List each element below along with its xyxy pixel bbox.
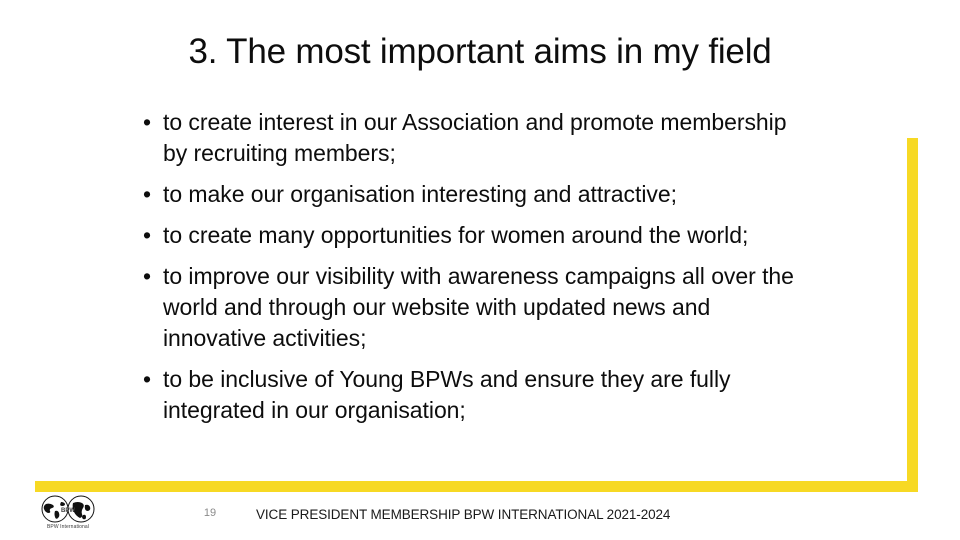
accent-bar-horizontal	[35, 481, 918, 492]
list-item-text: to create interest in our Association an…	[163, 107, 803, 169]
bpw-international-logo: BPW BPW International	[37, 495, 99, 535]
list-item-text: to make our organisation interesting and…	[163, 179, 803, 210]
bullet-point-icon: •	[143, 179, 163, 210]
list-item-text: to be inclusive of Young BPWs and ensure…	[163, 364, 803, 426]
svg-text:BPW: BPW	[61, 508, 75, 514]
bullet-point-icon: •	[143, 261, 163, 292]
list-item: • to improve our visibility with awarene…	[143, 261, 803, 354]
page-title: 3. The most important aims in my field	[0, 30, 960, 74]
list-item: • to create many opportunities for women…	[143, 220, 803, 251]
logo-caption: BPW International	[37, 524, 99, 530]
bullet-point-icon: •	[143, 364, 163, 395]
list-item-text: to improve our visibility with awareness…	[163, 261, 803, 354]
list-item: • to create interest in our Association …	[143, 107, 803, 169]
bullet-point-icon: •	[143, 107, 163, 138]
page-number: 19	[192, 505, 228, 521]
globes-icon: BPW	[37, 495, 99, 523]
footer-title: VICE PRESIDENT MEMBERSHIP BPW INTERNATIO…	[256, 506, 670, 524]
bullet-list: • to create interest in our Association …	[143, 107, 803, 436]
list-item-text: to create many opportunities for women a…	[163, 220, 803, 251]
bullet-point-icon: •	[143, 220, 163, 251]
list-item: • to be inclusive of Young BPWs and ensu…	[143, 364, 803, 426]
accent-bar-vertical	[907, 138, 918, 492]
slide: 3. The most important aims in my field •…	[0, 0, 960, 540]
list-item: • to make our organisation interesting a…	[143, 179, 803, 210]
